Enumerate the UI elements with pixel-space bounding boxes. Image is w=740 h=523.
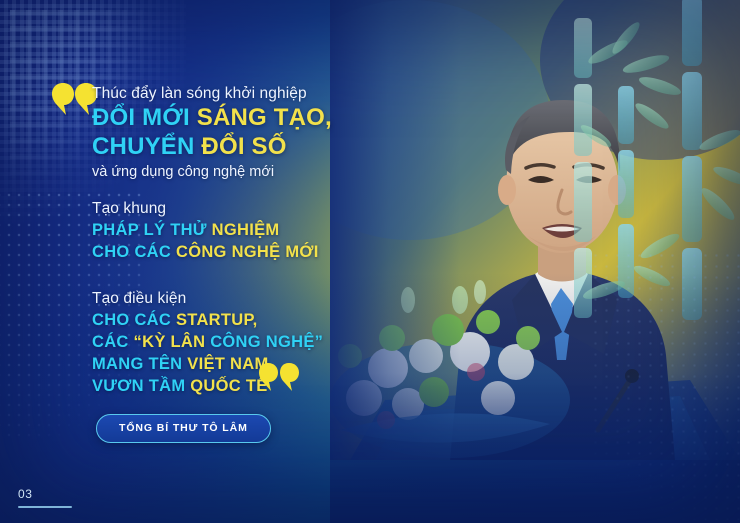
line-cyan-part: CÁC <box>92 333 134 351</box>
line-cyan-part: MANG TÊN <box>92 355 187 373</box>
quote-block-2-line-2: CHO CÁC CÔNG NGHỆ MỚI <box>92 241 319 263</box>
quote-block-1-line-2: CHUYỂN ĐỔI SỐ <box>92 133 332 162</box>
line-cyan-part: VƯƠN TẦM <box>92 377 190 395</box>
quote-close-icon <box>259 362 299 392</box>
quote-block-1-line-1: ĐỔI MỚI SÁNG TẠO, <box>92 104 332 133</box>
line-cyan-part: CHO CÁC <box>92 243 176 261</box>
line-cyan-part-2: CÔNG NGHỆ” <box>210 333 323 351</box>
line-yellow-part: STARTUP, <box>176 311 258 329</box>
slide-canvas: Thúc đẩy làn sóng khởi nghiệp ĐỔI MỚI SÁ… <box>0 0 740 523</box>
quote-block-2-line-1: PHÁP LÝ THỬ NGHIỆM <box>92 219 319 241</box>
quote-block-3-line-2: CÁC “KỲ LÂN CÔNG NGHỆ” <box>92 331 323 353</box>
quote-block-1-sub: và ứng dụng công nghệ mới <box>92 161 332 183</box>
line-yellow-part: NGHIỆM <box>212 221 280 239</box>
line-yellow-part: VIỆT NAM <box>187 355 268 373</box>
quote-block-1: Thúc đẩy làn sóng khởi nghiệp ĐỔI MỚI SÁ… <box>92 84 332 183</box>
quote-block-2-lead: Tạo khung <box>92 199 319 219</box>
quote-block-3-lead: Tạo điều kiện <box>92 289 323 309</box>
line-cyan-part: PHÁP LÝ THỬ <box>92 221 212 239</box>
line-cyan-part: CHO CÁC <box>92 311 176 329</box>
quote-block-3-line-1: CHO CÁC STARTUP, <box>92 309 323 331</box>
line-yellow-part: SÁNG TẠO, <box>197 104 332 131</box>
line-yellow-part: CÔNG NGHỆ MỚI <box>176 243 319 261</box>
line-yellow-part: ĐỔI SỐ <box>201 133 286 160</box>
line-cyan-part: CHUYỂN <box>92 133 201 160</box>
quote-block-2: Tạo khung PHÁP LÝ THỬ NGHIỆM CHO CÁC CÔN… <box>92 199 319 263</box>
attribution-pill-button[interactable]: TỔNG BÍ THƯ TÔ LÂM <box>96 414 271 443</box>
line-yellow-part: QUỐC TẾ <box>190 377 267 395</box>
page-number-underline <box>18 506 72 508</box>
line-cyan-part: ĐỔI MỚI <box>92 104 197 131</box>
line-yellow-part: “KỲ LÂN <box>134 333 211 351</box>
page-number: 03 <box>18 487 33 501</box>
quote-block-1-lead: Thúc đẩy làn sóng khởi nghiệp <box>92 84 332 104</box>
